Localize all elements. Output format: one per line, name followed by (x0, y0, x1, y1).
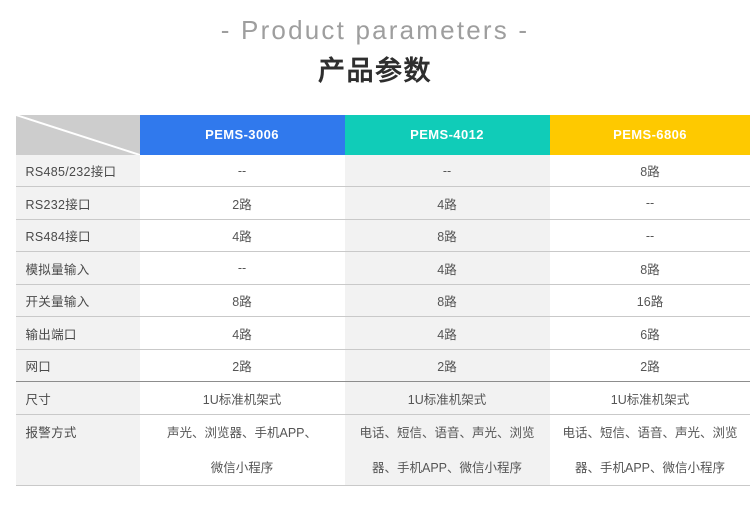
table-row: RS484接口 4路 8路 -- (16, 219, 750, 252)
table-header-row: PEMS-3006 PEMS-4012 PEMS-6806 (16, 115, 750, 155)
row-label: 模拟量输入 (16, 252, 140, 285)
row-label: 报警方式 (16, 415, 140, 449)
cell-value: 8路 (345, 284, 550, 317)
cell-value: 器、手机APP、微信小程序 (550, 448, 750, 486)
table-row: 开关量输入 8路 8路 16路 (16, 284, 750, 317)
cell-value: 2路 (550, 349, 750, 382)
cell-value: -- (140, 155, 345, 187)
cell-value: 器、手机APP、微信小程序 (345, 448, 550, 486)
cell-value: 微信小程序 (140, 448, 345, 486)
cell-value: 2路 (345, 349, 550, 382)
cell-value: 1U标准机架式 (550, 382, 750, 415)
cell-value: 2路 (140, 187, 345, 220)
cell-value: 4路 (345, 252, 550, 285)
diagonal-line-icon (16, 115, 140, 155)
corner-diagonal-cell (16, 115, 140, 155)
table-row: 网口 2路 2路 2路 (16, 349, 750, 382)
table-body: RS485/232接口 -- -- 8路 RS232接口 2路 4路 -- RS… (16, 155, 750, 486)
table-row-alarm-line2: 微信小程序 器、手机APP、微信小程序 器、手机APP、微信小程序 (16, 448, 750, 486)
row-label: 开关量输入 (16, 284, 140, 317)
page-title-block: - Product parameters - 产品参数 (0, 0, 750, 89)
cell-value: 电话、短信、语音、声光、浏览 (550, 415, 750, 449)
cell-value: 6路 (550, 317, 750, 350)
cell-value: 16路 (550, 284, 750, 317)
cell-value: 声光、浏览器、手机APP、 (140, 415, 345, 449)
row-label-continuation (16, 448, 140, 486)
table-row: 输出端口 4路 4路 6路 (16, 317, 750, 350)
row-label: RS484接口 (16, 219, 140, 252)
cell-value: 2路 (140, 349, 345, 382)
cell-value: 1U标准机架式 (345, 382, 550, 415)
row-label: 尺寸 (16, 382, 140, 415)
table-row: RS485/232接口 -- -- 8路 (16, 155, 750, 187)
table-row-alarm-line1: 报警方式 声光、浏览器、手机APP、 电话、短信、语音、声光、浏览 电话、短信、… (16, 415, 750, 449)
row-label: 输出端口 (16, 317, 140, 350)
cell-value: 4路 (345, 187, 550, 220)
product-parameters-table: PEMS-3006 PEMS-4012 PEMS-6806 RS485/232接… (16, 115, 750, 487)
row-label: 网口 (16, 349, 140, 382)
cell-value: 4路 (140, 317, 345, 350)
table-row: RS232接口 2路 4路 -- (16, 187, 750, 220)
spec-table-wrapper: PEMS-3006 PEMS-4012 PEMS-6806 RS485/232接… (8, 115, 743, 487)
cell-value: 8路 (550, 252, 750, 285)
cell-value: -- (140, 252, 345, 285)
table-header: PEMS-3006 PEMS-4012 PEMS-6806 (16, 115, 750, 155)
table-row: 尺寸 1U标准机架式 1U标准机架式 1U标准机架式 (16, 382, 750, 415)
cell-value: 8路 (140, 284, 345, 317)
cell-value: -- (550, 219, 750, 252)
page-title-english: - Product parameters - (0, 14, 750, 47)
cell-value: 8路 (550, 155, 750, 187)
cell-value: -- (550, 187, 750, 220)
cell-value: 4路 (345, 317, 550, 350)
table-row: 模拟量输入 -- 4路 8路 (16, 252, 750, 285)
column-header-pems-3006: PEMS-3006 (140, 115, 345, 155)
cell-value: 电话、短信、语音、声光、浏览 (345, 415, 550, 449)
cell-value: 1U标准机架式 (140, 382, 345, 415)
cell-value: 8路 (345, 219, 550, 252)
row-label: RS485/232接口 (16, 155, 140, 187)
column-header-pems-6806: PEMS-6806 (550, 115, 750, 155)
row-label: RS232接口 (16, 187, 140, 220)
cell-value: 4路 (140, 219, 345, 252)
page-title-chinese: 产品参数 (0, 53, 750, 89)
column-header-pems-4012: PEMS-4012 (345, 115, 550, 155)
cell-value: -- (345, 155, 550, 187)
